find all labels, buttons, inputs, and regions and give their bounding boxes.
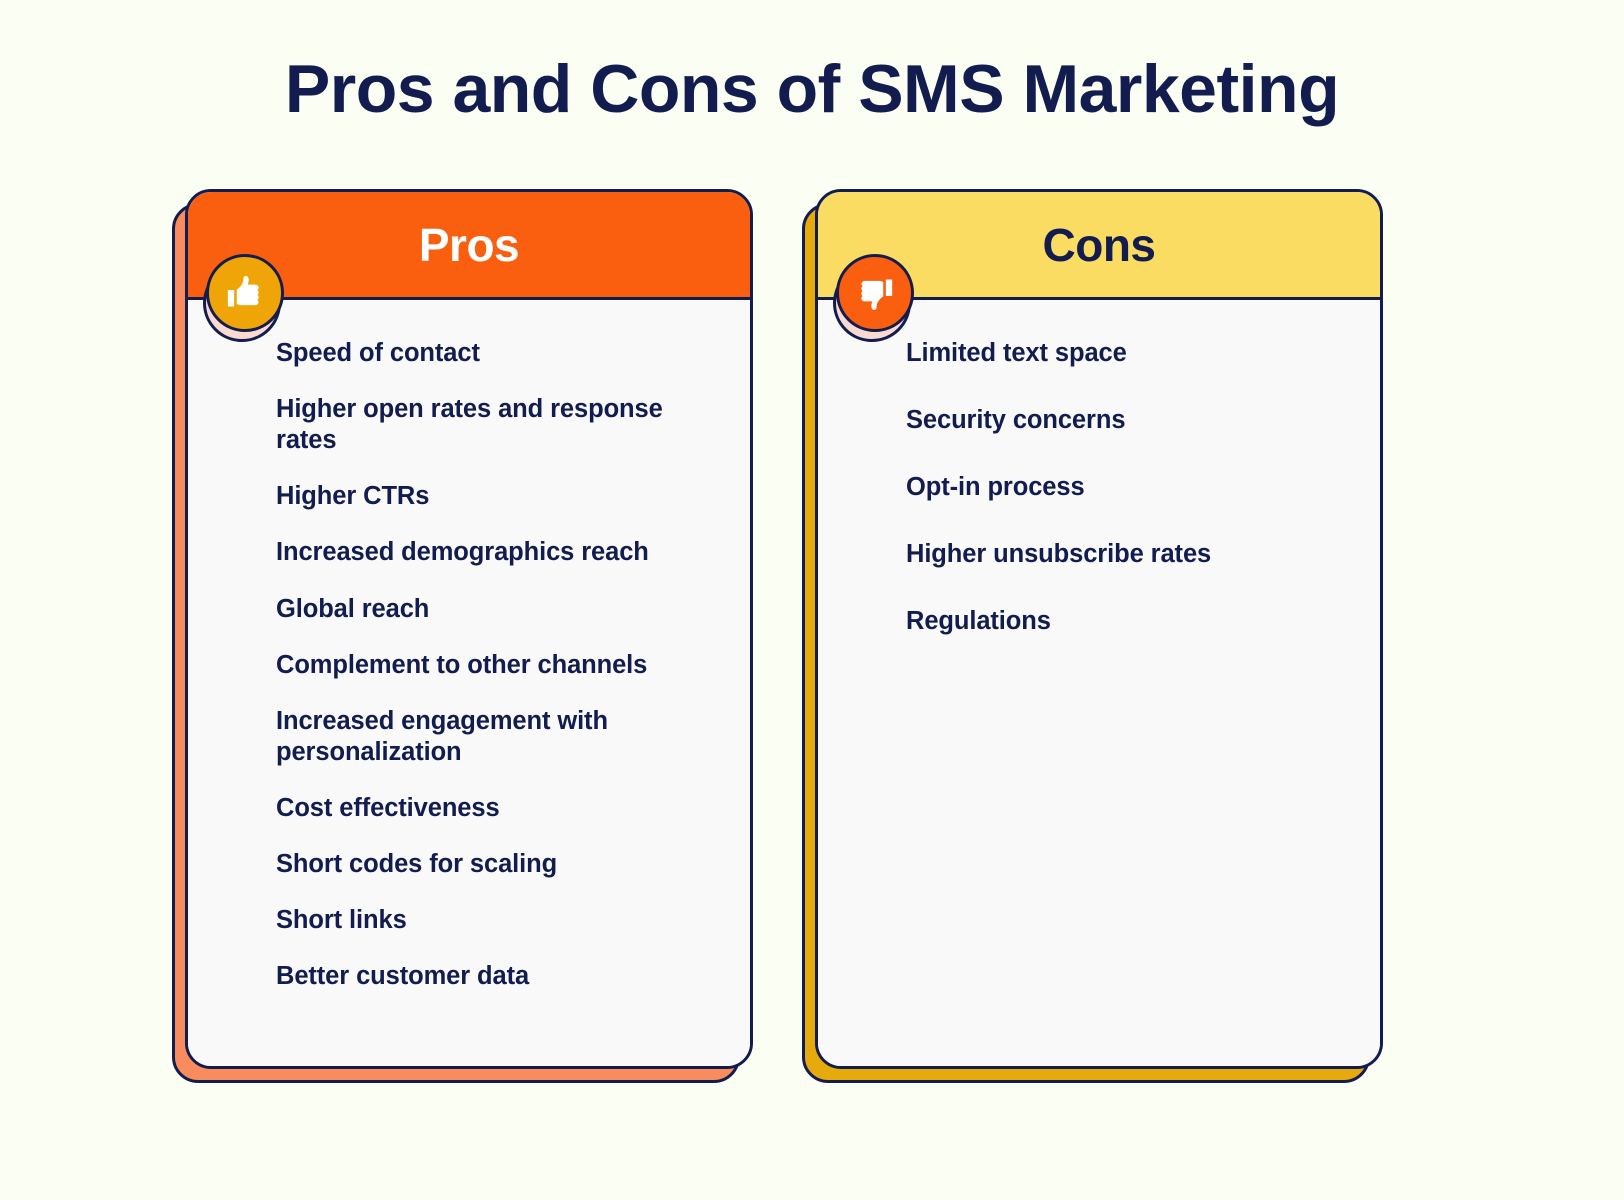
pros-item-list: Speed of contactHigher open rates and re… bbox=[276, 338, 720, 992]
list-item: Short codes for scaling bbox=[276, 849, 720, 880]
list-item: Limited text space bbox=[906, 338, 1350, 369]
cons-item-list: Limited text spaceSecurity concernsOpt-i… bbox=[906, 338, 1350, 638]
list-item: Complement to other channels bbox=[276, 650, 720, 681]
list-item: Increased demographics reach bbox=[276, 537, 720, 568]
pros-badge bbox=[206, 254, 284, 332]
thumbs-down-icon bbox=[836, 254, 914, 332]
pros-header-label: Pros bbox=[419, 222, 519, 268]
list-item: Speed of contact bbox=[276, 338, 720, 369]
list-item: Higher open rates and response rates bbox=[276, 394, 720, 456]
list-item: Security concerns bbox=[906, 405, 1350, 436]
list-item: Higher CTRs bbox=[276, 481, 720, 512]
list-item: Regulations bbox=[906, 606, 1350, 637]
list-item: Opt-in process bbox=[906, 472, 1350, 503]
cons-card-body: Limited text spaceSecurity concernsOpt-i… bbox=[818, 300, 1380, 1066]
page-title: Pros and Cons of SMS Marketing bbox=[0, 52, 1624, 127]
list-item: Cost effectiveness bbox=[276, 793, 720, 824]
list-item: Global reach bbox=[276, 594, 720, 625]
list-item: Higher unsubscribe rates bbox=[906, 539, 1350, 570]
cons-badge bbox=[836, 254, 914, 332]
list-item: Increased engagement with personalizatio… bbox=[276, 706, 720, 768]
infographic-canvas: Pros and Cons of SMS Marketing Pros Spee… bbox=[0, 0, 1624, 1200]
list-item: Better customer data bbox=[276, 961, 720, 992]
thumbs-up-icon bbox=[206, 254, 284, 332]
cons-header-label: Cons bbox=[1043, 222, 1156, 268]
list-item: Short links bbox=[276, 905, 720, 936]
pros-card-body: Speed of contactHigher open rates and re… bbox=[188, 300, 750, 1066]
